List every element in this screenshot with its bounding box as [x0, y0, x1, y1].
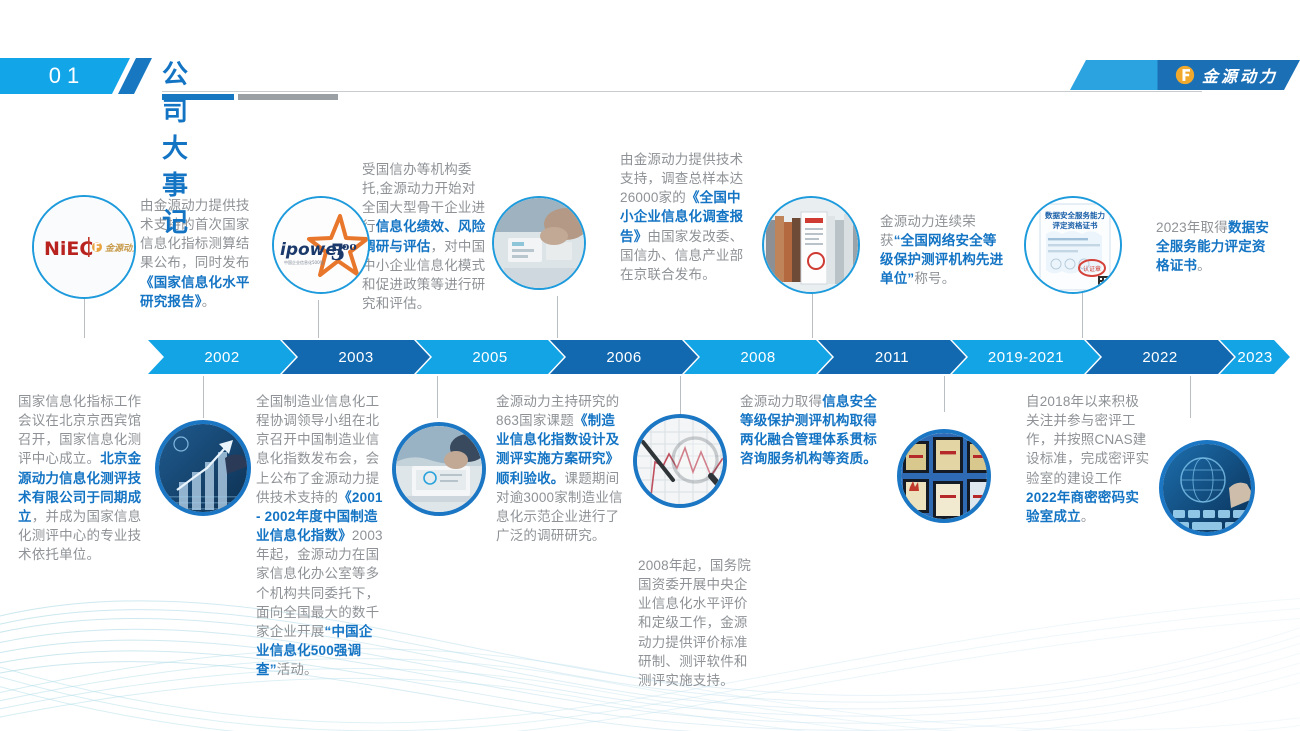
milestone-text-2008-bottom: 2008年起，国务院国资委开展中央企业信息化水平评价和定级工作，金源动力提供评价…: [638, 556, 756, 690]
connector-stem-2005b: [680, 376, 681, 414]
text-run: 由金源动力提供技术支持的首次国家信息化指标测算结果公布，同时发布: [140, 198, 250, 270]
text-run: 全国制造业信息化工程协调领导小组在北京召开中国制造业信息化指数发布会，会上公布了…: [256, 394, 379, 505]
page-title: 公司大事记: [162, 54, 190, 239]
text-run: 。: [1197, 258, 1211, 273]
milestone-text-2011-bottom: 金源动力取得信息安全等级保护测评机构取得两化融合管理体系贯标咨询服务机构等资质。: [740, 392, 884, 469]
cybersecurity-keyboard-photo: [1163, 444, 1251, 532]
milestone-image-2006: [762, 196, 860, 294]
milestone-text-2003-top: 受国信办等机构委托,金源动力开始对全国大型骨干企业进行信息化绩效、风险调研与评估…: [362, 160, 487, 313]
award-wall-photo: [901, 433, 987, 519]
data-security-certificate-photo: 数据安全服务能力 评定资格证书 认证章: [1026, 198, 1120, 292]
niec-logo-image: NiEC 金源动力: [34, 197, 134, 297]
certificate-books-photo: [764, 198, 858, 292]
milestone-image-2019-bottom: [897, 429, 991, 523]
timeline-year-2006[interactable]: 2006: [550, 340, 698, 374]
milestone-text-2019-top: 金源动力连续荣获“全国网络安全等级保护测评机构先进单位”称号。: [880, 212, 1008, 289]
milestone-text-2023-top: 2023年取得数据安全服务能力评定资格证书。: [1156, 218, 1276, 275]
milestone-image-2005-bottom: [392, 422, 486, 516]
milestone-text-2001-top: 由金源动力提供技术支持的首次国家信息化指标测算结果公布，同时发布《国家信息化水平…: [140, 196, 260, 311]
slide-canvas: 01 公司大事记 金源动力 2001 2002 2003 2005 2006 2…: [0, 0, 1300, 731]
milestone-image-2003: ipower 5 oo 中国企业信息化500强: [272, 196, 370, 294]
milestone-text-2001-bottom: 国家信息化指标工作会议在北京京西宾馆召开，国家信息化测评中心成立。北京金源动力信…: [18, 392, 148, 564]
milestone-text-2006-top: 由金源动力提供技术支持，调查总样本达26000家的《全国中小企业信息化调查报告》…: [620, 150, 748, 284]
timeline-year-2022[interactable]: 2022: [1086, 340, 1234, 374]
svg-text:金源动力: 金源动力: [105, 243, 134, 254]
brand-badge: 金源动力: [1070, 60, 1300, 90]
header-underline-gray: [238, 94, 338, 100]
connector-stem-2006: [557, 296, 558, 338]
milestone-image-2022-bottom: [1159, 440, 1255, 536]
text-run: 活动。: [277, 662, 318, 677]
text-run: 2023年取得: [1156, 220, 1228, 235]
text-run: 称号。: [914, 271, 955, 286]
milestone-image-2019: 数据安全服务能力 评定资格证书 认证章: [1024, 196, 1122, 294]
text-run: 2008年起，国务院国资委开展中央企业信息化水平评价和定级工作，金源动力提供评价…: [638, 558, 751, 688]
header-underline-blue: [162, 94, 234, 100]
svg-text:oo: oo: [342, 240, 357, 253]
text-run: ，并成为国家信息化测评中心的专业技术依托单位。: [18, 509, 141, 562]
text-run: 。: [1081, 509, 1095, 524]
timeline-year-2001[interactable]: 2001: [14, 340, 162, 374]
timeline-year-band: 2001 2002 2003 2005 2006 2008 2011 2019-…: [14, 340, 1290, 374]
timeline-year-2008[interactable]: 2008: [684, 340, 832, 374]
f-flag-icon: [1175, 65, 1195, 85]
svg-text:NiEC: NiEC: [44, 238, 93, 260]
milestone-text-2022-bottom: 自2018年以来积极关注并参与密评工作，并按照CNAS建设标准，完成密评实验室的…: [1026, 392, 1152, 526]
magnifier-chart-photo: [637, 418, 723, 504]
milestone-image-2002-bottom: [155, 420, 251, 516]
milestone-image-2001: NiEC 金源动力: [32, 195, 136, 299]
connector-stem-2003b: [437, 376, 438, 418]
milestone-text-2005-bottom: 金源动力主持研究的863国家课题《制造业信息化指数设计及测评实施方案研究》顺利验…: [496, 392, 628, 545]
text-run: 自2018年以来积极关注并参与密评工作，并按照CNAS建设标准，完成密评实验室的…: [1026, 394, 1149, 486]
timeline-year-2019-2021[interactable]: 2019-2021: [952, 340, 1100, 374]
text-run: 。: [202, 294, 216, 309]
timeline-year-2005[interactable]: 2005: [416, 340, 564, 374]
milestone-image-2006-bottom: [633, 414, 727, 508]
connector-stem-2022b: [1190, 376, 1191, 418]
connector-stem-2002: [203, 376, 204, 418]
connector-stem-2003: [318, 300, 319, 338]
svg-text:认证章: 认证章: [1083, 265, 1101, 273]
header-divider: [162, 91, 1202, 92]
svg-text:中国企业信息化500强: 中国企业信息化500强: [284, 259, 324, 265]
connector-stem-2019: [1082, 292, 1083, 338]
text-run-highlight: 《国家信息化水平研究报告》: [140, 275, 250, 309]
timeline-year-2011[interactable]: 2011: [818, 340, 966, 374]
timeline-year-2003[interactable]: 2003: [282, 340, 430, 374]
text-run: 2003年起，金源动力在国家信息化办公室等多个机构共同委托下，面向全国最大的数千…: [256, 528, 383, 639]
milestone-image-2005-top: [492, 196, 586, 290]
data-growth-chart-photo: [159, 424, 247, 512]
section-number: 01: [0, 58, 130, 94]
connector-stem-2019b: [944, 376, 945, 412]
svg-text:数据安全服务能力: 数据安全服务能力: [1045, 210, 1105, 220]
text-run: 金源动力取得: [740, 394, 822, 409]
connector-stem-2011: [812, 288, 813, 338]
brand-name: 金源动力: [1202, 63, 1278, 87]
office-desk-photo: [494, 198, 584, 288]
timeline-year-2002[interactable]: 2002: [148, 340, 296, 374]
ipower500-logo-image: ipower 5 oo 中国企业信息化500强: [274, 198, 368, 292]
svg-text:评定资格证书: 评定资格证书: [1053, 220, 1098, 230]
laptop-photo: [396, 426, 482, 512]
milestone-text-2003-bottom: 全国制造业信息化工程协调领导小组在北京召开中国制造业信息化指数发布会，会上公布了…: [256, 392, 384, 679]
